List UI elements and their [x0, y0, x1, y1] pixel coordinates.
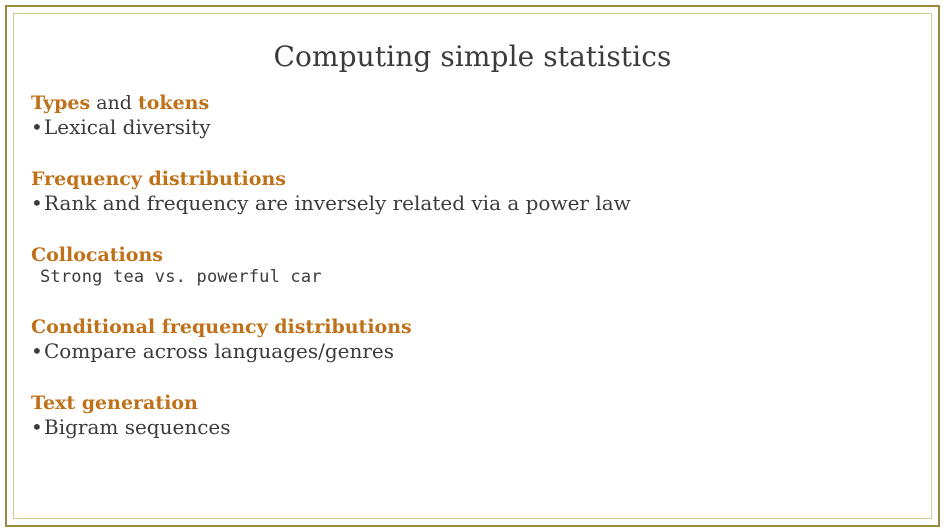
content-block: CollocationsStrong tea vs. powerful car: [31, 244, 914, 288]
bullet-icon: •: [31, 191, 44, 215]
heading-segment: Conditional frequency distributions: [31, 316, 412, 338]
bullet-line: •Compare across languages/genres: [31, 339, 914, 363]
heading-segment: Text generation: [31, 392, 198, 414]
line-text: Rank and frequency are inversely related…: [44, 191, 631, 215]
heading-segment: Types: [31, 92, 90, 114]
content-block: Types and tokens•Lexical diversity: [31, 92, 914, 140]
line-text: Compare across languages/genres: [44, 339, 394, 363]
content-block: Text generation•Bigram sequences: [31, 392, 914, 440]
heading-segment: and: [90, 92, 138, 114]
bullet-line: •Lexical diversity: [31, 115, 914, 139]
slide: Computing simple statistics Types and to…: [0, 0, 945, 532]
heading-segment: Frequency distributions: [31, 168, 286, 190]
heading-segment: Collocations: [31, 244, 163, 266]
block-heading: Frequency distributions: [31, 168, 914, 190]
page-title: Computing simple statistics: [0, 40, 945, 73]
content-block: Frequency distributions•Rank and frequen…: [31, 168, 914, 216]
bullet-line: •Rank and frequency are inversely relate…: [31, 191, 914, 215]
bullet-icon: •: [31, 415, 44, 439]
block-heading: Conditional frequency distributions: [31, 316, 914, 338]
code-line: Strong tea vs. powerful car: [31, 267, 914, 288]
bullet-icon: •: [31, 339, 44, 363]
line-text: Strong tea vs. powerful car: [40, 267, 322, 287]
slide-content: Types and tokens•Lexical diversityFreque…: [31, 92, 914, 439]
block-heading: Text generation: [31, 392, 914, 414]
heading-segment: tokens: [138, 92, 209, 114]
bullet-line: •Bigram sequences: [31, 415, 914, 439]
bullet-icon: •: [31, 115, 44, 139]
line-text: Lexical diversity: [44, 115, 211, 139]
content-block: Conditional frequency distributions•Comp…: [31, 316, 914, 364]
block-heading: Types and tokens: [31, 92, 914, 114]
block-heading: Collocations: [31, 244, 914, 266]
line-text: Bigram sequences: [44, 415, 231, 439]
